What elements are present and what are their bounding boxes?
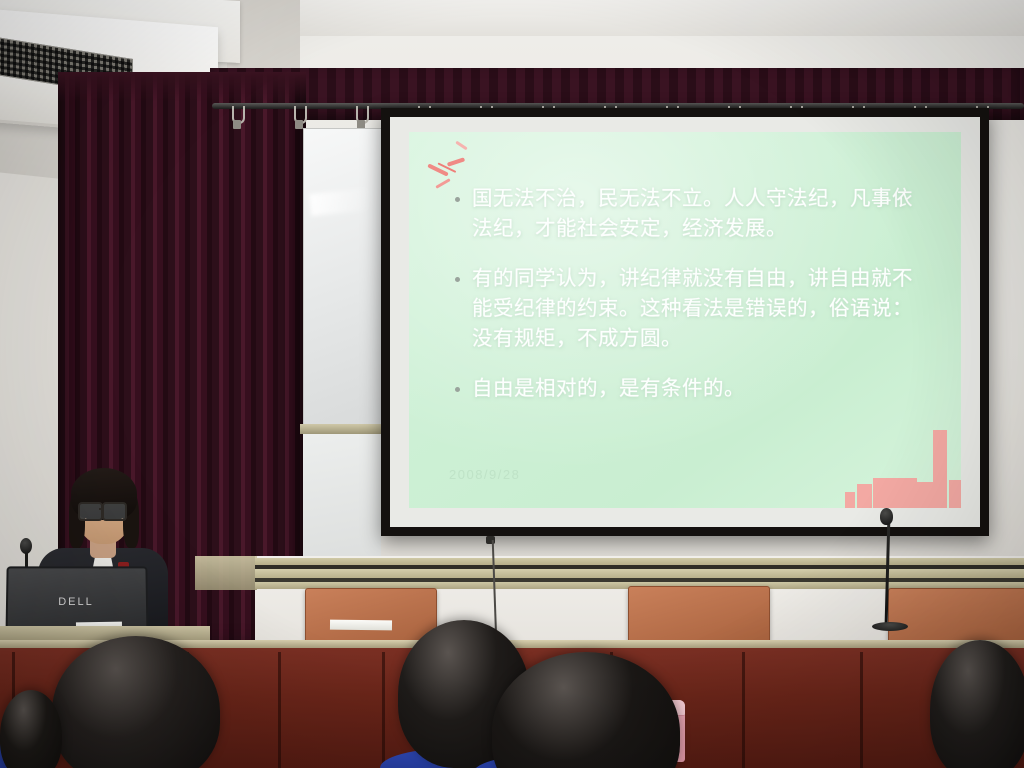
audience-head	[930, 640, 1024, 768]
papers-on-table	[330, 620, 392, 631]
bullet-dot-icon	[455, 197, 460, 202]
microphone-base	[872, 622, 908, 631]
podium-seam	[742, 652, 745, 768]
table-microphone-icon	[20, 538, 32, 554]
bullet-text: 国无法不治，民无法不立。人人守法纪，凡事依法纪，才能社会安定，经济发展。	[472, 184, 933, 244]
list-item: 国无法不治，民无法不立。人人守法纪，凡事依法纪，才能社会安定，经济发展。	[455, 184, 933, 244]
microphone-icon	[880, 508, 893, 525]
skyline-building	[845, 492, 855, 508]
city-skyline-icon	[843, 416, 961, 508]
podium-seam	[382, 652, 385, 768]
curtain-hook-pin	[233, 120, 241, 129]
bullet-text: 有的同学认为，讲纪律就没有自由，讲自由就不能受纪律的约束。这种看法是错误的，俗语…	[472, 264, 933, 354]
skyline-building	[933, 430, 947, 508]
lecture-hall-photo: 国无法不治，民无法不立。人人守法纪，凡事依法纪，才能社会安定，经济发展。 有的同…	[0, 0, 1024, 768]
curtain-hook-pin	[295, 120, 303, 129]
projection-screen-mat: 国无法不治，民无法不立。人人守法纪，凡事依法纪，才能社会安定，经济发展。 有的同…	[390, 117, 980, 527]
projected-slide: 国无法不治，民无法不立。人人守法纪，凡事依法纪，才能社会安定，经济发展。 有的同…	[409, 132, 961, 508]
list-item: 有的同学认为，讲纪律就没有自由，讲自由就不能受纪律的约束。这种看法是错误的，俗语…	[455, 264, 933, 354]
wall-molding-left	[195, 556, 257, 590]
wall-panel-rail	[300, 424, 384, 434]
wall-molding	[255, 569, 1024, 578]
eyeglasses-icon	[102, 502, 127, 521]
slide-bullet-list: 国无法不治，民无法不立。人人守法纪，凡事依法纪，才能社会安定，经济发展。 有的同…	[455, 184, 933, 424]
eyeglasses-icon	[78, 502, 103, 521]
curtain-top-shadow	[58, 72, 306, 102]
laptop-brand-logo: DELL	[58, 596, 94, 609]
projection-screen-frame: 国无法不治，民无法不立。人人守法纪，凡事依法纪，才能社会安定，经济发展。 有的同…	[381, 108, 989, 536]
list-item: 自由是相对的，是有条件的。	[455, 374, 933, 404]
skyline-building	[949, 480, 961, 508]
ceiling-strip	[220, 0, 1024, 36]
podium-seam	[278, 652, 281, 768]
eyeglasses-bridge	[99, 508, 104, 510]
podium-seam	[860, 652, 863, 768]
bullet-dot-icon	[455, 277, 460, 282]
wall-molding	[255, 558, 1024, 565]
wall-panel-lower	[303, 434, 381, 564]
bullet-dot-icon	[455, 387, 460, 392]
slide-date-stamp: 2008/9/28	[449, 467, 520, 482]
wall-whiteboard-panel	[303, 128, 383, 426]
bullet-text: 自由是相对的，是有条件的。	[472, 374, 745, 404]
skyline-building	[857, 484, 872, 508]
